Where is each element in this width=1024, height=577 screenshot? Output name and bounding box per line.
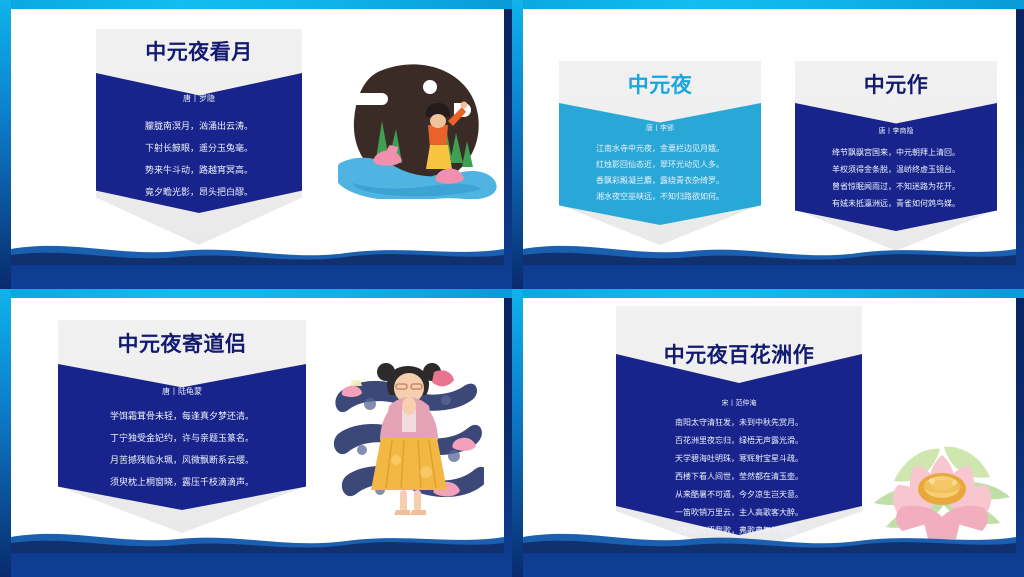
poem-line: 百花洲里夜忘归，绿梧无声露光滑。 (616, 432, 862, 450)
poem-author: 唐丨罗隐 (96, 93, 302, 104)
poem-author: 唐丨李郢 (559, 123, 761, 133)
wave-decoration (523, 527, 1016, 553)
wave-decoration (11, 527, 504, 553)
poem-card[interactable]: 中元作 唐丨李商隐 绛节飘飖宫国来，中元朝拜上清回。 羊权须得金条脱，温峤终虚玉… (795, 61, 997, 251)
poem-line: 学饵霜茸骨未轻，每逢真夕梦还清。 (58, 405, 306, 427)
poem-line: 红烛影回仙态近，翠环光动见人多。 (559, 157, 761, 173)
poem-lines: 绛节飘飖宫国来，中元朝拜上清回。 羊权须得金条脱，温峤终虚玉镜台。 曾省惊眠闻雨… (795, 144, 997, 212)
poem-card[interactable]: 中元夜 唐丨李郢 江南水寺中元夜，金粟栏边见月娥。 红烛影回仙态近，翠环光动见人… (559, 61, 761, 245)
poem-card[interactable]: 中元夜寄道侣 唐丨陆龟蒙 学饵霜茸骨未轻，每逢真夕梦还清。 丁宁独受金妃约，许与… (58, 320, 306, 533)
slide-canvas: 中元夜寄道侣 唐丨陆龟蒙 学饵霜茸骨未轻，每逢真夕梦还清。 丁宁独受金妃约，许与… (11, 298, 504, 553)
poem-line: 江南水寺中元夜，金粟栏边见月娥。 (559, 141, 761, 157)
poem-lines: 朦胧南溟月，汹涌出云涛。 下射长鲸眼，遥分玉兔毫。 势来牛斗动，路越宵冥高。 竟… (96, 115, 302, 203)
poem-line: 西楼下看人间世，莹然都在清玉壶。 (616, 468, 862, 486)
poem-title: 中元夜 (559, 69, 761, 99)
slide-left-bar (512, 289, 523, 577)
slide-thumbnail-3[interactable]: 中元夜寄道侣 唐丨陆龟蒙 学饵霜茸骨未轻，每逢真夕梦还清。 丁宁独受金妃约，许与… (0, 289, 512, 577)
poem-line: 曾省惊眠闻雨过，不知迷路为花开。 (795, 178, 997, 195)
poem-line: 须臾枕上桐窗晓，露压千枝滴滴声。 (58, 471, 306, 493)
slide-left-bar (512, 0, 523, 289)
poem-title: 中元夜寄道侣 (58, 328, 306, 358)
poem-author: 唐丨李商隐 (795, 126, 997, 136)
poem-line: 从来酷暑不可遁，今夕凉生岂天意。 (616, 486, 862, 504)
slide-canvas: 中元夜看月 唐丨罗隐 朦胧南溟月，汹涌出云涛。 下射长鲸眼，遥分玉兔毫。 势来牛… (11, 9, 504, 265)
poem-title: 中元夜百花洲作 (616, 339, 862, 369)
poem-line: 丁宁独受金妃约，许与亲题玉篆名。 (58, 427, 306, 449)
poem-author: 宋丨范仲淹 (616, 398, 862, 408)
poem-card[interactable]: 中元夜看月 唐丨罗隐 朦胧南溟月，汹涌出云涛。 下射长鲸眼，遥分玉兔毫。 势来牛… (96, 29, 302, 245)
slide-thumbnail-1[interactable]: 中元夜看月 唐丨罗隐 朦胧南溟月，汹涌出云涛。 下射长鲸眼，遥分玉兔毫。 势来牛… (0, 0, 512, 289)
slide-top-bar (512, 289, 1024, 298)
poem-line: 南阳太守清狂发，未到中秋先赏月。 (616, 414, 862, 432)
poem-line: 下射长鲸眼，遥分玉兔毫。 (96, 137, 302, 159)
poem-author: 唐丨陆龟蒙 (58, 386, 306, 397)
slide-canvas: 中元夜百花洲作 宋丨范仲淹 南阳太守清狂发，未到中秋先赏月。 百花洲里夜忘归，绿… (523, 298, 1016, 553)
poem-card[interactable]: 中元夜百花洲作 宋丨范仲淹 南阳太守清狂发，未到中秋先赏月。 百花洲里夜忘归，绿… (616, 306, 862, 553)
slide-canvas: 中元夜 唐丨李郢 江南水寺中元夜，金粟栏边见月娥。 红烛影回仙态近，翠环光动见人… (523, 9, 1016, 265)
poem-lines: 学饵霜茸骨未轻，每逢真夕梦还清。 丁宁独受金妃约，许与亲题玉篆名。 月苦撼残临水… (58, 405, 306, 493)
poem-line: 朦胧南溟月，汹涌出云涛。 (96, 115, 302, 137)
slide-top-bar (0, 0, 512, 9)
girl-praying-water-illustration (334, 330, 484, 520)
poem-line: 湘水夜空巫峡远，不知归路欲如何。 (559, 189, 761, 205)
poem-title: 中元作 (795, 69, 997, 99)
slide-thumbnail-grid: 中元夜看月 唐丨罗隐 朦胧南溟月，汹涌出云涛。 下射长鲸眼，遥分玉兔毫。 势来牛… (0, 0, 1024, 577)
poem-line: 竟夕瞻光影，昂头把白醪。 (96, 181, 302, 203)
slide-left-bar (0, 289, 11, 577)
wave-decoration (523, 239, 1016, 265)
slide-top-bar (512, 0, 1024, 9)
poem-line: 羊权须得金条脱，温峤终虚玉镜台。 (795, 161, 997, 178)
slide-thumbnail-4[interactable]: 中元夜百花洲作 宋丨范仲淹 南阳太守清狂发，未到中秋先赏月。 百花洲里夜忘归，绿… (512, 289, 1024, 577)
poem-line: 天学碧海吐明珠，寒辉射宝星斗疏。 (616, 450, 862, 468)
slide-thumbnail-2[interactable]: 中元夜 唐丨李郢 江南水寺中元夜，金粟栏边见月娥。 红烛影回仙态近，翠环光动见人… (512, 0, 1024, 289)
poem-lines: 江南水寺中元夜，金粟栏边见月娥。 红烛影回仙态近，翠环光动见人多。 香飘彩殿凝兰… (559, 141, 761, 205)
poem-line: 香飘彩殿凝兰麝，露绕青衣杂绮罗。 (559, 173, 761, 189)
poem-line: 月苦撼残临水珮，风微飘断系云缨。 (58, 449, 306, 471)
poem-line: 绛节飘飖宫国来，中元朝拜上清回。 (795, 144, 997, 161)
wave-decoration (11, 239, 504, 265)
poem-title: 中元夜看月 (96, 36, 302, 66)
slide-top-bar (0, 289, 512, 298)
slide-left-bar (0, 0, 11, 289)
poem-line: 一笛吹销万里云，主人高歌客大醉。 (616, 504, 862, 522)
poem-line: 势来牛斗动，路越宵冥高。 (96, 159, 302, 181)
poem-lines: 南阳太守清狂发，未到中秋先赏月。 百花洲里夜忘归，绿梧无声露光滑。 天学碧海吐明… (616, 414, 862, 540)
girl-lotus-moon-illustration (338, 59, 498, 199)
poem-line: 有娀未抵瀛洲远，青雀如何鸩鸟媒。 (795, 195, 997, 212)
